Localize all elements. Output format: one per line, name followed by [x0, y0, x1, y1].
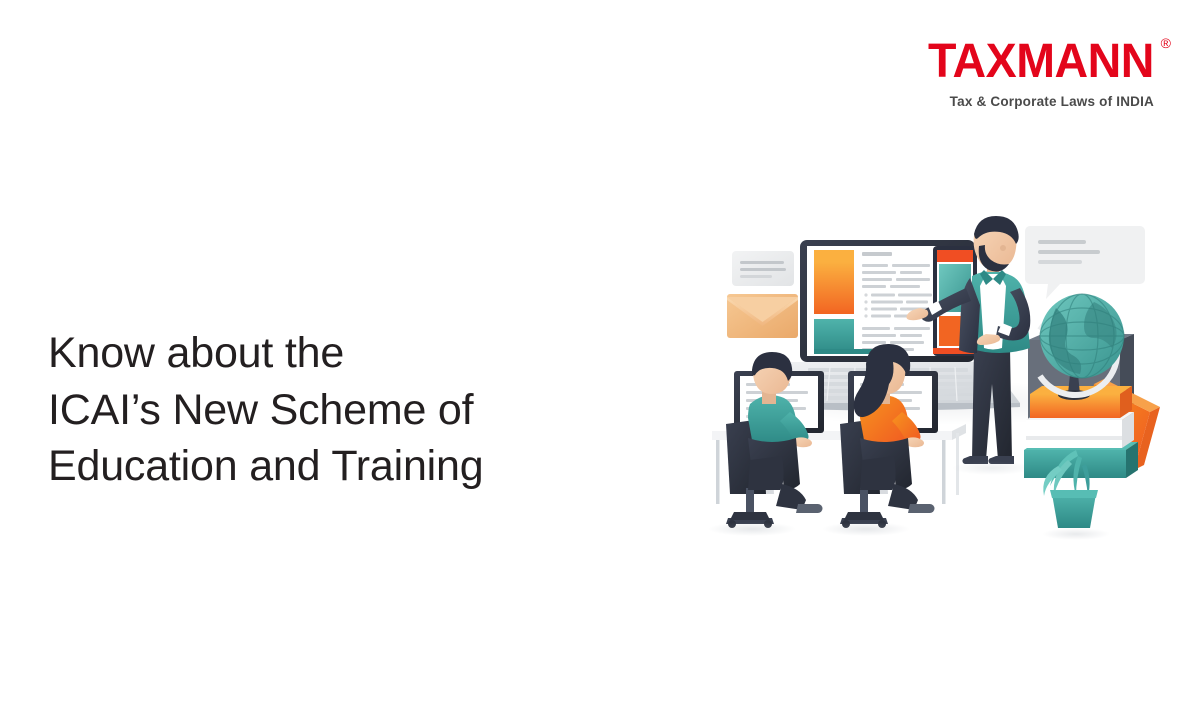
logo-wordmark: TAXMANN	[928, 38, 1154, 86]
page-title-line-3: Education and Training	[48, 438, 483, 495]
plant-pot	[1052, 494, 1096, 528]
chair-two-shadow	[822, 522, 910, 536]
registered-trademark-icon: ®	[1161, 36, 1171, 50]
taxmann-logo[interactable]: TAXMANN ® Tax & Corporate Laws of INDIA	[921, 38, 1154, 109]
plant-shadow	[1042, 528, 1110, 540]
logo-wordmark-wrap: TAXMANN ®	[921, 38, 1154, 86]
online-classroom-illustration	[690, 188, 1190, 558]
logo-tagline: Tax & Corporate Laws of INDIA	[921, 95, 1154, 109]
page-title-line-1: Know about the	[48, 325, 483, 382]
screen-block-teal	[814, 319, 854, 354]
screen-block-yellow	[814, 250, 854, 262]
message-card	[732, 251, 794, 286]
chair-one-shadow	[708, 522, 796, 536]
envelope	[727, 294, 798, 338]
book-stack-group	[1024, 294, 1160, 540]
screen-block-orange	[814, 262, 854, 314]
instructor-shadow	[952, 461, 1032, 475]
student-one	[726, 352, 824, 528]
speech-bubble	[1025, 226, 1145, 299]
page-title: Know about the ICAI’s New Scheme of Educ…	[48, 325, 483, 495]
book-white	[1026, 420, 1122, 448]
page-title-line-2: ICAI’s New Scheme of	[48, 382, 483, 439]
banner-root: TAXMANN ® Tax & Corporate Laws of INDIA …	[0, 0, 1200, 704]
